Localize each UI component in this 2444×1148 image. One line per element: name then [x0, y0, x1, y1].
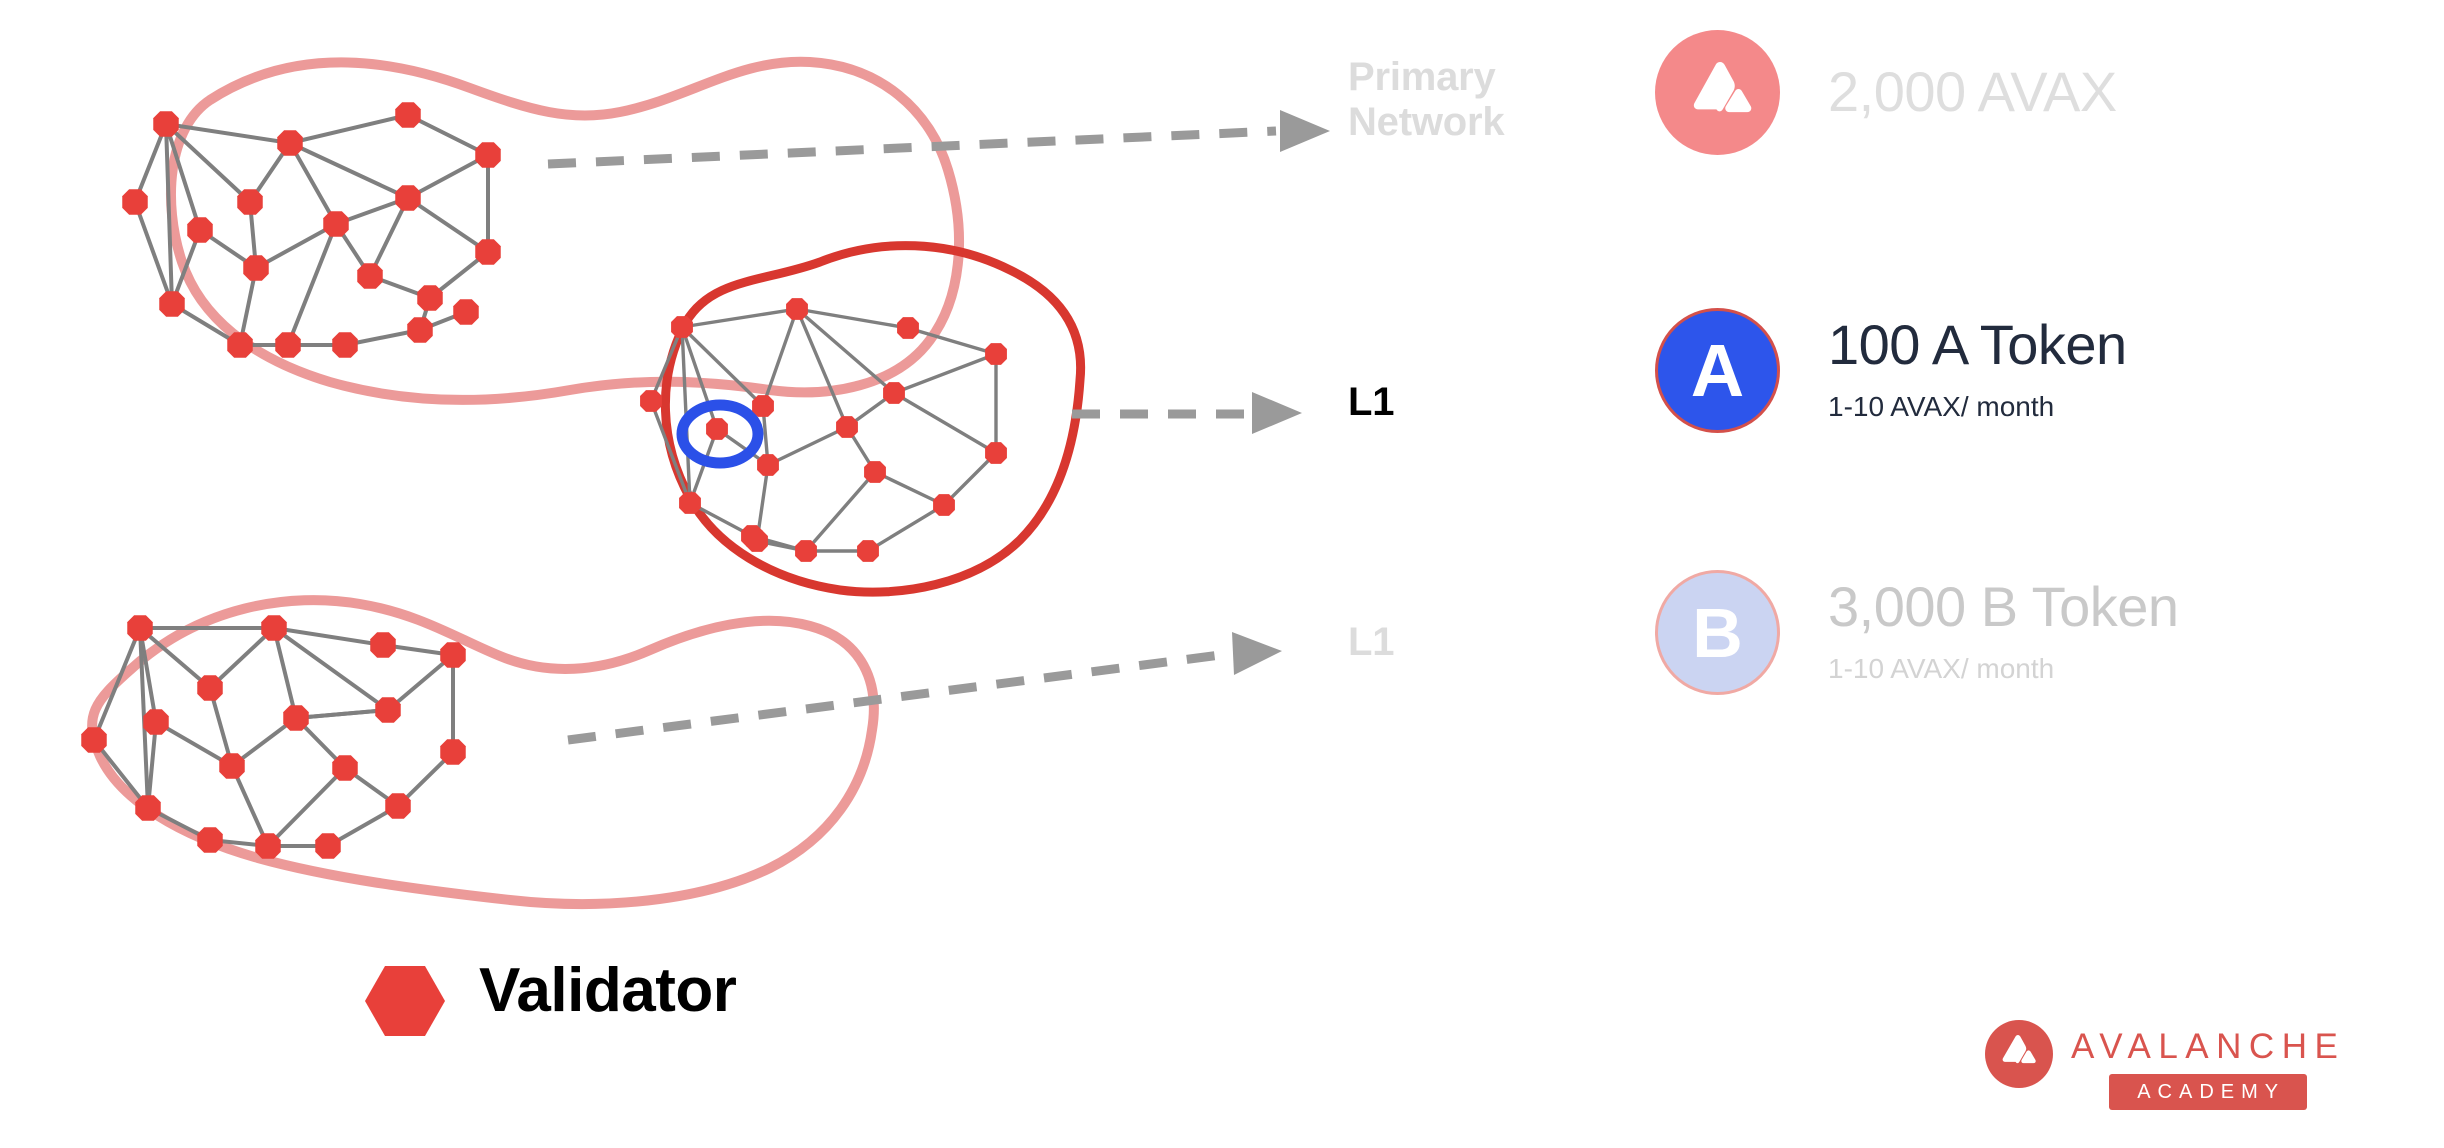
network-primary	[122, 62, 959, 400]
token-title: 3,000 B Token	[1828, 578, 2179, 637]
token-subtitle: 1-10 AVAX/ month	[1828, 389, 2127, 425]
token-text-group: 3,000 B Token 1-10 AVAX/ month	[1828, 578, 2179, 687]
arrow-l1-a	[1072, 392, 1302, 434]
avax-glyph-icon	[1679, 54, 1757, 132]
token-row: B 3,000 B Token 1-10 AVAX/ month	[1655, 570, 2179, 695]
token-badge-letter: A	[1691, 334, 1744, 408]
token-text-group: 100 A Token 1-10 AVAX/ month	[1828, 316, 2127, 425]
legend-marker-spacer	[365, 956, 445, 1026]
token-row: A 100 A Token 1-10 AVAX/ month	[1655, 308, 2127, 433]
network-l1-b	[81, 600, 874, 904]
brand-text-group: AVALANCHE ACADEMY	[2071, 1020, 2345, 1110]
avax-logo-icon	[1655, 30, 1780, 155]
legend: Validator	[365, 955, 736, 1026]
token-row: 2,000 AVAX	[1655, 30, 2117, 155]
brand-wordmark: AVALANCHE	[2071, 1029, 2345, 1064]
token-badge-b: B	[1655, 570, 1780, 695]
diagram-canvas: Primary Network L1 L1 2,000 AVAX A 100 A…	[0, 0, 2444, 1148]
token-title: 2,000 AVAX	[1828, 63, 2117, 122]
avalanche-logo-icon	[1985, 1020, 2053, 1088]
legend-label: Validator	[479, 955, 736, 1026]
token-subtitle: 1-10 AVAX/ month	[1828, 651, 2179, 687]
avalanche-academy-logo: AVALANCHE ACADEMY	[1985, 1020, 2345, 1110]
arrow-l1-b	[568, 632, 1282, 740]
network-label-l1-b: L1	[1348, 620, 1394, 665]
token-badge-a: A	[1655, 308, 1780, 433]
network-l1-a	[640, 246, 1081, 593]
brand-academy-badge: ACADEMY	[2109, 1074, 2307, 1110]
token-title: 100 A Token	[1828, 316, 2127, 375]
network-label-primary: Primary Network	[1348, 55, 1504, 145]
token-badge-letter: B	[1692, 598, 1743, 668]
network-label-l1-a: L1	[1348, 380, 1394, 425]
token-text-group: 2,000 AVAX	[1828, 63, 2117, 122]
